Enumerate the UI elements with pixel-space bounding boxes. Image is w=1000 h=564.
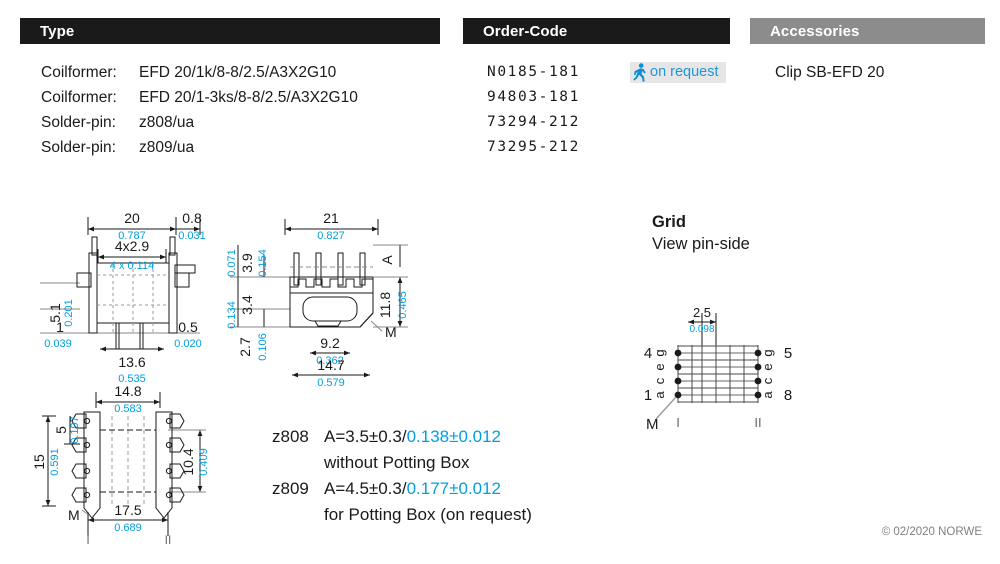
accessory-row: Clip SB-EFD 20	[775, 60, 884, 85]
dim-08-mm: 0.8	[182, 210, 202, 226]
dim-08-in: 0.031	[178, 230, 206, 242]
header-type: Type	[20, 18, 440, 44]
dim-104-mm: 10.4	[180, 448, 196, 475]
dim-20-mm: 20	[124, 210, 140, 226]
type-row: Coilformer:EFD 20/1-3ks/8-8/2.5/A3X2G10	[41, 85, 358, 110]
column-label-I: I	[86, 533, 89, 547]
dim-148-mm: 14.8	[114, 383, 141, 399]
grid-row-label-left: a	[652, 391, 667, 399]
dim-136-mm: 13.6	[118, 354, 145, 370]
type-row-value: EFD 20/1-3ks/8-8/2.5/A3X2G10	[139, 89, 358, 106]
walking-person-icon	[633, 63, 648, 82]
on-request-label: on request	[650, 62, 719, 83]
dim-4x29-mm: 4x2.9	[115, 238, 149, 254]
dim-05-mm: 0.5	[178, 319, 198, 335]
dim-21-in: 0.827	[317, 230, 345, 242]
note-desc: without Potting Box	[272, 450, 532, 476]
type-row-value: EFD 20/1k/8-8/2.5/A3X2G10	[139, 64, 336, 81]
header-accessories: Accessories	[750, 18, 985, 44]
grid-pin-number-5: 5	[784, 345, 792, 362]
dim-175-mm: 17.5	[114, 502, 141, 518]
type-row-label: Solder-pin:	[41, 135, 139, 160]
type-row: Coilformer:EFD 20/1k/8-8/2.5/A3X2G10	[41, 60, 358, 85]
dim-34-mm: 3.4	[239, 295, 255, 315]
dim-label-A: A	[379, 255, 395, 265]
dim-27-in: 0.106	[257, 333, 269, 361]
dim-5-in: 0.197	[69, 416, 81, 444]
dim-118-mm: 11.8	[377, 292, 393, 318]
note-desc: for Potting Box (on request)	[272, 502, 532, 528]
grid-column-label-II: II	[754, 415, 761, 430]
note-value-in: 0.177±0.012	[407, 479, 501, 498]
grid-pin-number-4: 4	[644, 345, 652, 362]
note-row: z808A=3.5±0.3/0.138±0.012	[272, 424, 532, 450]
grid-row-label-right: e	[760, 363, 775, 370]
datasheet-page: Type Order-Code Accessories Coilformer:E…	[0, 0, 1000, 564]
type-row-value: z809/ua	[139, 139, 194, 156]
dim-label-M-bottom: M	[68, 507, 80, 523]
type-row-value: z808/ua	[139, 114, 194, 131]
grid-title: Grid	[652, 212, 750, 233]
dim-4x29-in: 4 x 0.114	[110, 260, 154, 272]
dim-27-mm: 2.7	[237, 337, 253, 357]
dim-1-mm: 1	[56, 319, 64, 335]
dim-118-in: 0.465	[397, 291, 409, 319]
order-code-row: N0185-181	[487, 60, 580, 85]
grid-pitch-in: 0.098	[689, 324, 714, 335]
dim-147-mm: 14.7	[317, 357, 344, 373]
dim-1-in: 0.039	[44, 338, 72, 350]
dim-5-mm: 5	[53, 426, 69, 434]
drawing-side-view: 21 0.827 0.071 3.9 0.154 3.4 0.134 2.7 0…	[230, 205, 425, 390]
dim-label-M-middle: M	[385, 324, 397, 340]
dim-15-mm: 15	[31, 454, 47, 470]
header-order-code: Order-Code	[463, 18, 730, 44]
order-code-row: 73295-212	[487, 135, 580, 160]
note-code: z808	[272, 424, 324, 450]
grid-row-label-left: g	[652, 349, 667, 356]
column-label-II: II	[165, 533, 172, 547]
note-value-in: 0.138±0.012	[407, 427, 501, 446]
grid-row-label-right: g	[760, 349, 775, 356]
grid-row-label-right: c	[760, 377, 775, 384]
type-list: Coilformer:EFD 20/1k/8-8/2.5/A3X2G10 Coi…	[41, 60, 358, 160]
dim-15-in: 0.591	[49, 448, 61, 476]
dim-39-in: 0.154	[257, 249, 269, 277]
type-row: Solder-pin:z809/ua	[41, 135, 358, 160]
type-row: Solder-pin:z808/ua	[41, 110, 358, 135]
grid-row-label-left: e	[652, 363, 667, 370]
order-code-row: 94803-181	[487, 85, 580, 110]
order-code-row: 73294-212	[487, 110, 580, 135]
drawing-front-view: 20 0.787 0.8 0.031 4x2.9 4 x 0.114 5.1 0…	[40, 205, 250, 385]
grid-label-M: M	[646, 416, 659, 433]
on-request-badge[interactable]: on request	[630, 62, 726, 83]
dim-05-in: 0.020	[174, 338, 202, 350]
dim-147-in: 0.579	[317, 377, 345, 389]
drawing-bottom-view: 14.8 0.583 15 0.591 5 0.197 10.4 0.409 1…	[38, 378, 243, 548]
header-type-label: Type	[20, 23, 74, 40]
dim-39-mm: 3.9	[239, 253, 255, 273]
type-row-label: Coilformer:	[41, 60, 139, 85]
dim-18-in: 0.071	[226, 249, 238, 277]
grid-heading: Grid View pin-side	[652, 212, 750, 255]
copyright-footer: © 02/2020 NORWE	[882, 526, 982, 538]
order-code-list: N0185-181 94803-181 73294-212 73295-212	[487, 60, 580, 160]
dim-175-in: 0.689	[114, 522, 142, 534]
note-code: z809	[272, 476, 324, 502]
dim-92-mm: 9.2	[320, 335, 340, 351]
header-accessories-label: Accessories	[750, 23, 860, 40]
note-value-mm: A=4.5±0.3/	[324, 479, 407, 498]
type-row-label: Solder-pin:	[41, 110, 139, 135]
dim-104-in: 0.409	[198, 448, 210, 476]
note-row: z809A=4.5±0.3/0.177±0.012	[272, 476, 532, 502]
header-order-code-label: Order-Code	[463, 23, 567, 40]
pin-grid-diagram: 2.5 0.098 g e c a g e c a 4 1 5 8 M I II	[640, 295, 820, 445]
grid-subtitle: View pin-side	[652, 233, 750, 255]
grid-pitch-mm: 2.5	[693, 305, 711, 320]
dim-21-mm: 21	[323, 210, 339, 226]
grid-pin-number-1: 1	[644, 387, 652, 404]
type-row-label: Coilformer:	[41, 85, 139, 110]
grid-column-label-I: I	[676, 415, 680, 430]
grid-pin-number-8: 8	[784, 387, 792, 404]
dim-148-in: 0.583	[114, 403, 142, 415]
dim-34-in: 0.134	[226, 301, 238, 329]
dim-51-in: 0.201	[63, 299, 75, 327]
pin-notes: z808A=3.5±0.3/0.138±0.012 without Pottin…	[272, 424, 532, 528]
grid-row-label-left: c	[652, 377, 667, 384]
grid-row-label-right: a	[760, 391, 775, 399]
accessories-list: Clip SB-EFD 20	[775, 60, 884, 85]
note-value-mm: A=3.5±0.3/	[324, 427, 407, 446]
